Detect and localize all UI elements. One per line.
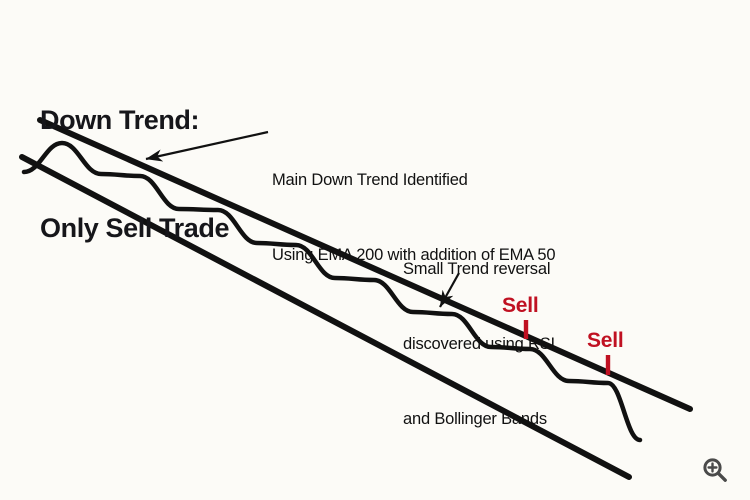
annotation-small-trend-reversal-line-1: Small Trend reversal <box>403 257 555 282</box>
title-line-1: Down Trend: <box>40 102 229 138</box>
chart-canvas: Down Trend: Only Sell Trade Main Down Tr… <box>0 0 750 500</box>
annotation-small-trend-reversal-line-3: and Bollinger Bands <box>403 407 555 432</box>
annotation-main-down-trend-line-1: Main Down Trend Identified <box>272 168 555 193</box>
zoom-in-icon[interactable] <box>700 455 730 485</box>
page-title: Down Trend: Only Sell Trade <box>40 30 229 318</box>
sell-signal-label-2: Sell <box>587 329 624 353</box>
sell-signal-label-1: Sell <box>502 294 539 318</box>
title-line-2: Only Sell Trade <box>40 210 229 246</box>
annotation-small-trend-reversal-line-2: discovered using RSI <box>403 332 555 357</box>
annotation-small-trend-reversal: Small Trend reversal discovered using RS… <box>403 207 555 482</box>
